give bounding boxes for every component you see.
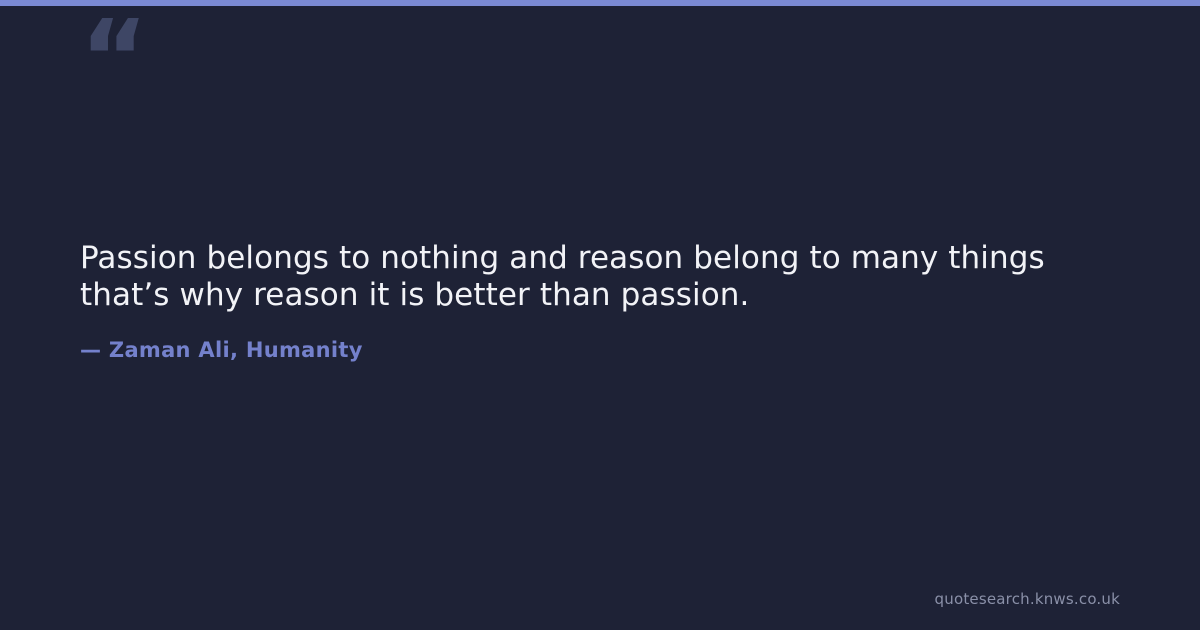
site-watermark: quotesearch.knws.co.uk bbox=[935, 590, 1120, 608]
quote-attribution: — Zaman Ali, Humanity bbox=[80, 337, 1120, 363]
quote-card: “ Passion belongs to nothing and reason … bbox=[0, 0, 1200, 630]
quote-text: Passion belongs to nothing and reason be… bbox=[80, 240, 1080, 314]
quote-content: Passion belongs to nothing and reason be… bbox=[80, 240, 1120, 363]
open-quote-icon: “ bbox=[80, 6, 200, 96]
